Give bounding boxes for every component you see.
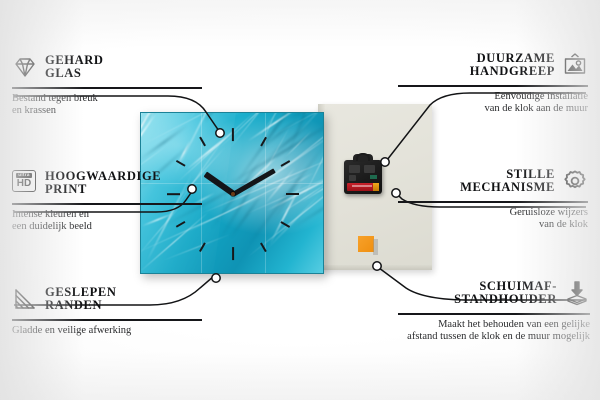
quartz-movement: [344, 160, 382, 194]
hour-tick: [232, 128, 234, 141]
battery-label: [352, 185, 372, 187]
gear-icon: [562, 168, 588, 194]
callout-duurzame-handgreep: DUURZAMEHANDGREEP Eenvoudige installatie…: [398, 48, 588, 116]
infographic-stage: GEHARDGLAS Bestand tegen breuken krassen…: [0, 0, 600, 400]
callout-gehard-glas: GEHARDGLAS Bestand tegen breuken krassen: [12, 50, 202, 118]
movement-slot: [364, 165, 375, 173]
callout-rule: [398, 313, 590, 315]
ultra-hd-icon: ultraHD: [12, 170, 38, 196]
callout-subtitle: Eenvoudige installatievan de klok aan de…: [398, 91, 588, 116]
callout-header: DUURZAMEHANDGREEP: [398, 48, 588, 82]
callout-stille-mechanisme: STILLEMECHANISME Geruisloze wijzersvan d…: [398, 164, 588, 232]
callout-title: HOOGWAARDIGEPRINT: [45, 170, 161, 197]
callout-header: GEHARDGLAS: [12, 50, 202, 84]
panel-bottom-edge: [318, 265, 432, 270]
callout-subtitle: Maakt het behouden van een gelijkeafstan…: [398, 319, 590, 344]
picture-hanger-icon: [562, 52, 588, 78]
hour-tick: [232, 247, 234, 260]
movement-slot: [349, 165, 360, 173]
movement-slot: [349, 175, 356, 181]
hour-tick: [286, 193, 299, 195]
callout-subtitle: Bestand tegen breuken krassen: [12, 93, 202, 118]
callout-header: GESLEPENRANDEN: [12, 282, 202, 316]
callout-title: GEHARDGLAS: [45, 54, 103, 81]
callout-header: STILLEMECHANISME: [398, 164, 588, 198]
battery: [347, 183, 379, 191]
callout-rule: [12, 319, 202, 321]
callout-hoogwaardige-print: ultraHD HOOGWAARDIGEPRINT Intense kleure…: [12, 166, 202, 234]
callout-rule: [12, 87, 202, 89]
callout-rule: [398, 85, 588, 87]
callout-subtitle: Gladde en veilige afwerking: [12, 325, 202, 338]
foam-standoff-pad: [358, 236, 374, 252]
callout-subtitle: Intense kleuren eneen duidelijk beeld: [12, 209, 202, 234]
callout-geslepen-randen: GESLEPENRANDEN Gladde en veilige afwerki…: [12, 282, 202, 337]
callout-schuimafstandhouder: SCHUIMAF-STANDHOUDER Maakt het behouden …: [398, 276, 590, 344]
press-down-pad-icon: [564, 280, 590, 306]
callout-header: SCHUIMAF-STANDHOUDER: [398, 276, 590, 310]
movement-hook: [356, 153, 370, 161]
callout-title: GESLEPENRANDEN: [45, 286, 117, 313]
pad-shadow: [373, 239, 378, 255]
callout-title: DUURZAMEHANDGREEP: [470, 52, 555, 79]
callout-header: ultraHD HOOGWAARDIGEPRINT: [12, 166, 202, 200]
hand-pivot: [231, 192, 235, 196]
beveled-edge-icon: [12, 286, 38, 312]
callout-subtitle: Geruisloze wijzersvan de klok: [398, 207, 588, 232]
callout-rule: [12, 203, 202, 205]
movement-chip: [370, 175, 377, 179]
callout-rule: [398, 201, 588, 203]
callout-title: SCHUIMAF-STANDHOUDER: [454, 280, 557, 307]
diamond-icon: [12, 54, 38, 80]
callout-title: STILLEMECHANISME: [460, 168, 555, 195]
